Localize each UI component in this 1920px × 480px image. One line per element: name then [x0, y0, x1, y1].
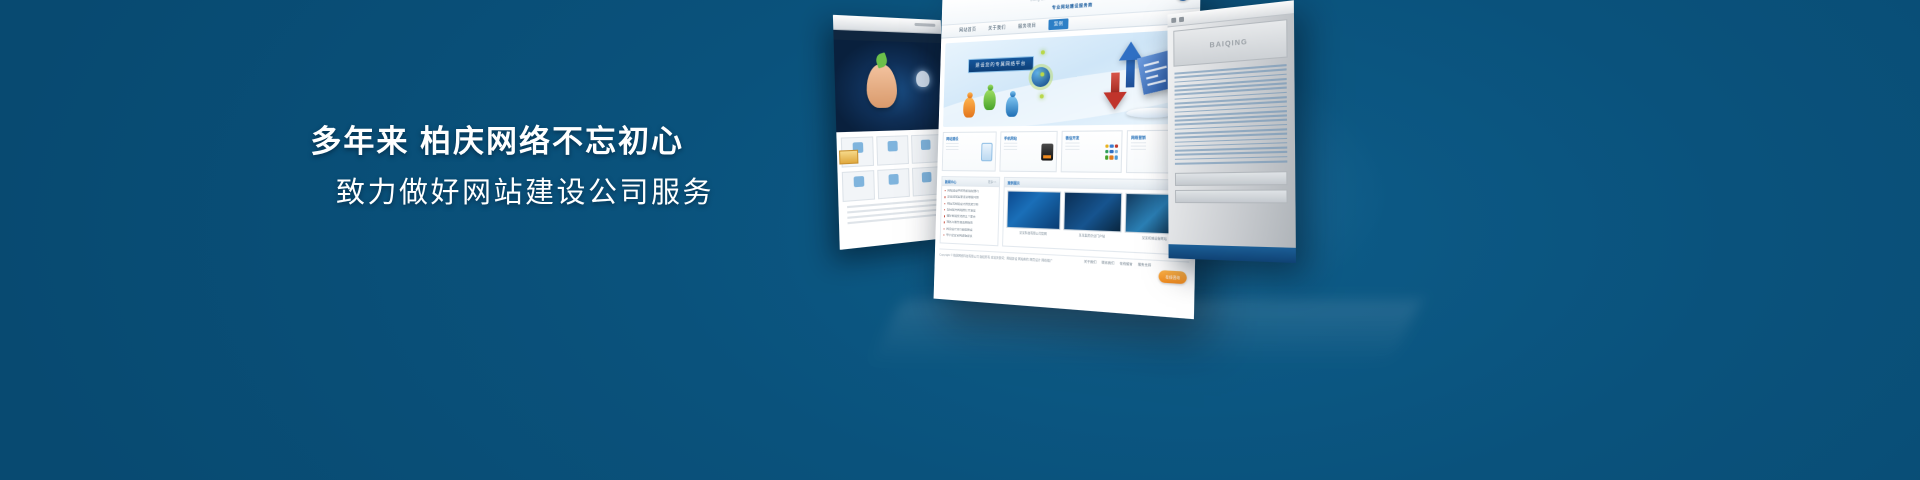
banner-tagline: 建设您的专属网络平台 [968, 56, 1034, 73]
cases-panel: 案例展示 更多>> 某某科技有限公司官网 某某集团企业门户站 [1002, 177, 1191, 256]
news-item[interactable]: 网站建设中的色彩搭配技巧 [945, 189, 996, 193]
feature-card[interactable]: 微信开发 [1061, 130, 1123, 173]
orange-figure-icon [963, 97, 975, 117]
left-preview-card [842, 170, 876, 202]
headline-line-2: 致力做好网站建设公司服务 [0, 179, 880, 208]
right-preview-hero-text: BAIQING [1210, 38, 1248, 49]
red-arrow-down-head [1103, 92, 1127, 110]
footer-nav[interactable]: 关于我们 联系我们 在线留言 服务支持 [1084, 260, 1151, 268]
news-item[interactable]: 做好网站优化的五个要点 [944, 214, 995, 219]
headline-block: 多年来 柏庆网络不忘初心 致力做好网站建设公司服务 [0, 126, 880, 208]
left-preview-card [878, 168, 910, 199]
site-logo[interactable]: 柏庆网络 [1147, 0, 1192, 3]
blue-arrow-up-icon [1126, 59, 1135, 88]
right-preview-hero: BAIQING [1173, 19, 1287, 67]
nav-item-about[interactable]: 关于我们 [988, 25, 1006, 32]
main-preview-feature-cards: 网站建设 手机网站 微信开发 [942, 130, 1192, 174]
footer-link-contact[interactable]: 联系我们 [1102, 261, 1115, 266]
news-item[interactable]: 企业建站需要注意哪些问题 [945, 195, 996, 199]
news-panel-title: 新闻中心 [945, 179, 957, 184]
case-item[interactable]: 某某集团企业门户站 [1063, 192, 1122, 239]
left-preview-card [877, 135, 909, 165]
footer-link-support[interactable]: 服务支持 [1138, 263, 1151, 268]
news-panel: 新闻中心 更多>> 网站建设中的色彩搭配技巧 企业建站需要注意哪些问题 响应式网… [940, 176, 1001, 247]
news-item[interactable]: 域名与服务器选购指南 [944, 221, 995, 226]
right-website-preview[interactable]: BAIQING [1167, 0, 1296, 263]
left-website-preview[interactable] [833, 15, 947, 250]
blue-figure-icon [1006, 96, 1019, 117]
main-preview-footer: Copyright © 柏庆网络科技有限公司 版权所有 本站关键词：网站建设 网… [939, 249, 1190, 292]
news-item[interactable]: 中小企业官网改版建议 [943, 234, 994, 239]
swirl-circle-logo-icon [1176, 0, 1192, 1]
footer-link-message[interactable]: 在线留言 [1120, 262, 1133, 267]
grid-icon [1105, 144, 1118, 159]
hero-banner: 多年来 柏庆网络不忘初心 致力做好网站建设公司服务 [0, 0, 1920, 480]
website-previews-scene: bring an ideal to life, no limits 专业网站建设… [800, 0, 1500, 370]
banner-dot-track [1039, 50, 1046, 115]
feature-card-title: 网络营销 [1131, 134, 1146, 140]
feature-card[interactable]: 网站建设 [942, 131, 997, 171]
left-preview-text-lines [843, 198, 943, 224]
case-caption: 某某集团企业门户站 [1063, 232, 1121, 239]
lightbulb-icon [916, 71, 930, 87]
tablet-icon [981, 142, 993, 160]
headline-line-1: 多年来 柏庆网络不忘初心 [0, 126, 880, 157]
right-preview-block [1175, 190, 1288, 204]
footer-copyright: Copyright © 柏庆网络科技有限公司 版权所有 本站关键词：网站建设 网… [939, 253, 1104, 267]
news-list: 网站建设中的色彩搭配技巧 企业建站需要注意哪些问题 响应式网站设计的优势分析 如… [941, 186, 999, 246]
left-preview-side-tab[interactable] [839, 150, 858, 165]
news-item[interactable]: 如何提升网站的打开速度 [944, 208, 995, 213]
nav-item-services[interactable]: 服务项目 [1018, 23, 1036, 30]
left-preview-hero [834, 40, 944, 133]
nav-item-home[interactable]: 网站首页 [959, 26, 976, 33]
feature-card-title: 手机网站 [1004, 135, 1017, 140]
main-preview-lower: 新闻中心 更多>> 网站建设中的色彩搭配技巧 企业建站需要注意哪些问题 响应式网… [940, 176, 1191, 256]
green-figure-icon [983, 89, 996, 110]
window-icon [1171, 17, 1176, 23]
case-caption: 某某科技有限公司官网 [1006, 230, 1060, 237]
news-item[interactable]: 响应式网站设计的优势分析 [944, 202, 995, 206]
news-more-link[interactable]: 更多>> [988, 180, 996, 184]
topbar-slogan-main: 专业网站建设服务商 [1052, 2, 1093, 11]
feature-card-title: 网站建设 [946, 136, 958, 141]
case-thumbnail [1006, 190, 1061, 230]
left-preview-body [836, 129, 947, 250]
cases-panel-title: 案例展示 [1008, 180, 1020, 185]
news-item[interactable]: 网页设计流行趋势解读 [944, 227, 995, 232]
printer-icon [1179, 16, 1184, 22]
footer-link-about[interactable]: 关于我们 [1084, 260, 1097, 265]
case-thumbnail [1064, 192, 1122, 233]
hand-icon [866, 64, 898, 108]
mobile-icon [1041, 143, 1053, 160]
main-preview-banner: 建设您的专属网络平台 [943, 29, 1194, 127]
feature-card-title: 微信开发 [1065, 135, 1079, 140]
right-preview-text-lines [1168, 61, 1296, 169]
feature-card[interactable]: 手机网站 [999, 131, 1057, 172]
main-website-preview[interactable]: bring an ideal to life, no limits 专业网站建设… [934, 0, 1201, 319]
online-consult-button[interactable]: 在线咨询 [1159, 270, 1187, 283]
cases-row: 某某科技有限公司官网 某某集团企业门户站 某某机械设备网站 [1003, 187, 1189, 245]
case-item[interactable]: 某某科技有限公司官网 [1006, 190, 1061, 236]
left-preview-card-row [842, 166, 942, 202]
right-preview-block [1175, 171, 1288, 186]
nav-item-cases[interactable]: 案例 [1049, 19, 1069, 30]
